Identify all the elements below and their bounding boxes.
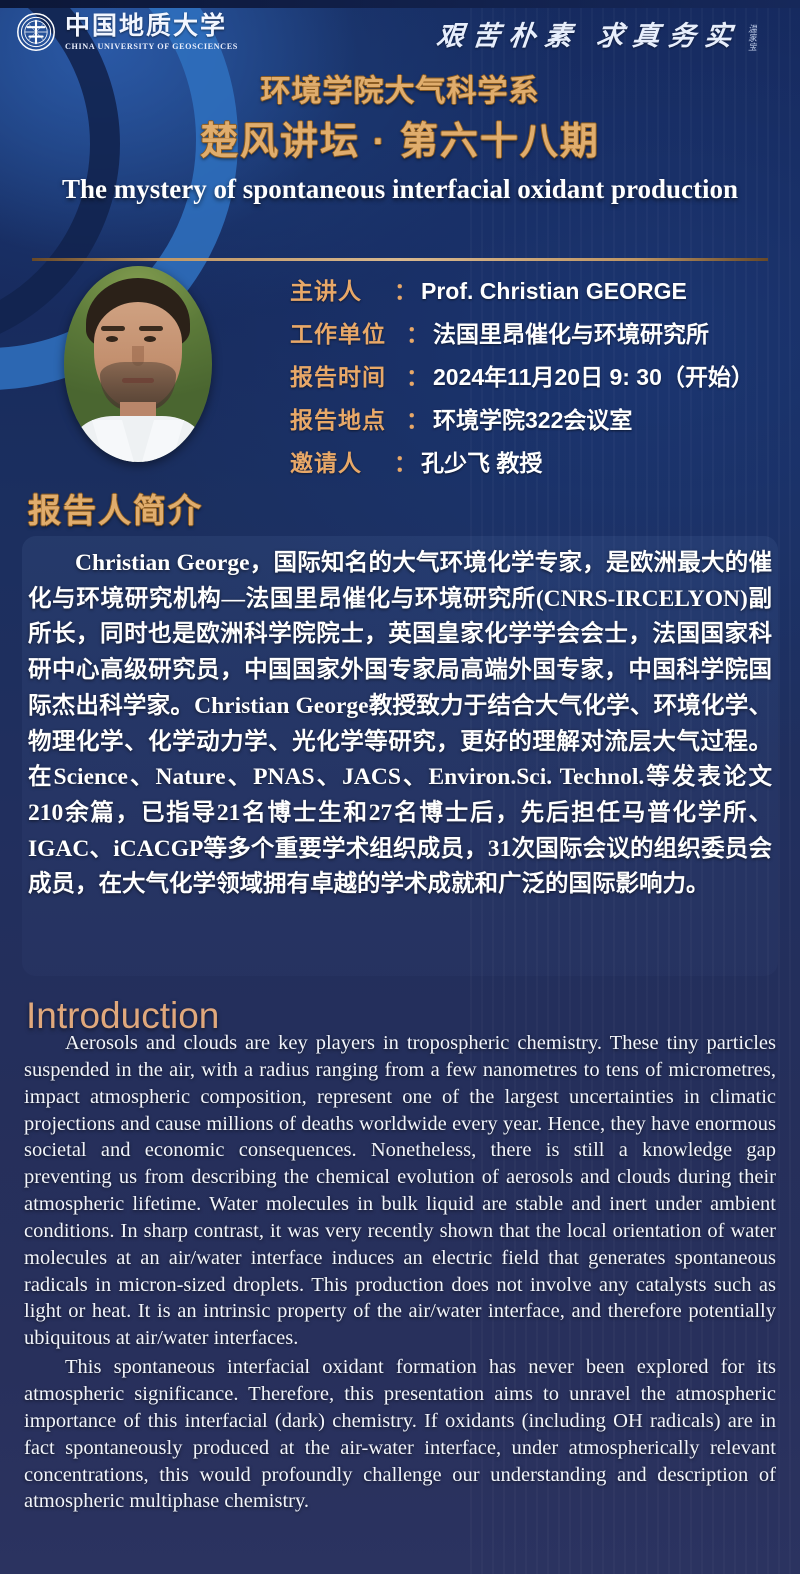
info-value-affiliation: 法国里昂催化与环境研究所 [433,315,709,349]
info-row-affiliation: 工作单位 ： 法国里昂催化与环境研究所 [290,315,790,349]
info-label-host: 邀请人 [290,444,390,478]
university-seal-icon [16,12,56,52]
info-label-speaker: 主讲人 [290,272,390,306]
motto-signature: 温家宝 [747,24,756,51]
introduction-paragraph-2: This spontaneous interfacial oxidant for… [24,1354,776,1515]
portrait-brow-left [101,326,125,331]
biography-heading: 报告人简介 [28,484,203,532]
info-colon-speaker: ： [390,272,421,306]
top-bar [0,0,800,8]
info-value-location: 环境学院322会议室 [433,401,632,435]
info-value-host: 孔少飞 教授 [421,444,542,478]
divider-line [32,258,768,261]
introduction-paragraph-1: Aerosols and clouds are key players in t… [24,1030,776,1352]
university-motto: 艰苦朴素 求真务实 温家宝 [437,14,756,53]
motto-text: 艰苦朴素 求真务实 [435,14,743,53]
portrait-brow-right [139,326,163,331]
info-colon-location: ： [402,401,433,435]
info-label-affiliation: 工作单位 [290,315,402,349]
info-value-speaker: Prof. Christian GEORGE [421,278,687,305]
portrait-mouth [122,378,154,383]
info-label-time: 报告时间 [290,358,402,392]
portrait-eye-right [144,336,156,342]
logo-text-english: CHINA UNIVERSITY OF GEOSCIENCES [65,42,238,51]
logo-text-chinese: 中国地质大学 [65,14,238,39]
talk-title: The mystery of spontaneous interfacial o… [60,172,740,207]
biography-text: Christian George，国际知名的大气环境化学专家，是欧洲最大的催化与… [28,546,772,903]
info-row-speaker: 主讲人 ： Prof. Christian GEORGE [290,272,790,306]
speaker-portrait [64,266,212,462]
info-row-host: 邀请人 ： 孔少飞 教授 [290,444,790,478]
info-label-location: 报告地点 [290,401,402,435]
department-title: 环境学院大气科学系 [0,66,800,110]
speaker-info-list: 主讲人 ： Prof. Christian GEORGE 工作单位 ： 法国里昂… [290,272,790,487]
info-colon-affiliation: ： [402,315,433,349]
university-logo: 中国地质大学 CHINA UNIVERSITY OF GEOSCIENCES [16,12,238,52]
series-title: 楚风讲坛 · 第六十八期 [0,110,800,165]
info-colon-host: ： [390,444,421,478]
introduction-body: Aerosols and clouds are key players in t… [24,1030,776,1515]
info-value-time: 2024年11月20日 9: 30（开始） [433,358,754,392]
info-row-time: 报告时间 ： 2024年11月20日 9: 30（开始） [290,358,790,392]
info-row-location: 报告地点 ： 环境学院322会议室 [290,401,790,435]
portrait-eye-left [106,336,118,342]
info-colon-time: ： [402,358,433,392]
